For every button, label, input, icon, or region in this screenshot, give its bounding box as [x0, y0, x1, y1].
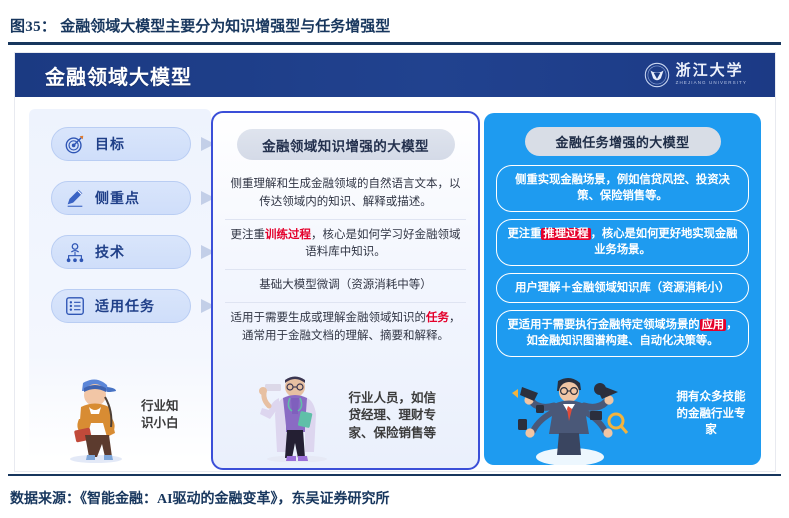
task-card: 更注重推理过程，核心是如何更好地实现金融业务场景。	[496, 219, 749, 266]
knowledge-row-text: ，核心是如何学习好金融领域语料库中知识。	[305, 229, 460, 259]
knowledge-row: 基础大模型微调（资源消耗中等）	[225, 269, 466, 302]
task-card-text: 用户理解＋金融领域知识库（资源消耗小）	[515, 282, 730, 294]
knowledge-row-text: 适用于需要生成或理解金融领域知识的	[231, 312, 427, 324]
task-card-highlight: 推理过程	[541, 228, 590, 240]
persona-expert: 拥有众多技能的金融行业专家	[484, 373, 761, 465]
knowledge-panel-rows: 侧重理解和生成金融领域的自然语言文本，以传达领域内的知识、解释或描述。 更注重训…	[213, 169, 478, 353]
dimension-label: 目标	[95, 134, 125, 154]
university-name-cn: 浙江大学	[676, 64, 747, 79]
figure-title: 金融领域大模型主要分为知识增强型与任务增强型	[60, 15, 390, 36]
student-novice-illustration	[53, 367, 139, 463]
persona-professional: 行业人员，如信贷经理、理财专家、保险销售等	[213, 368, 478, 464]
pencil-icon	[64, 187, 86, 209]
slide-title: 金融领域大模型	[45, 61, 192, 90]
source-divider	[8, 474, 781, 476]
task-panel-heading: 金融任务增强的大模型	[525, 127, 721, 156]
figure-caption: 图35： 金融领域大模型主要分为知识增强型与任务增强型	[10, 10, 780, 40]
knowledge-panel-heading: 金融领域知识增强的大模型	[237, 129, 455, 160]
knowledge-row-text: 更注重	[231, 229, 266, 241]
knowledge-row-text: 基础大模型微调（资源消耗中等）	[259, 279, 432, 291]
university-name: 浙江大学 ZHEJIANG UNIVERSITY	[676, 64, 747, 86]
checklist-icon	[64, 295, 86, 317]
dimension-label: 侧重点	[95, 188, 140, 208]
university-name-en: ZHEJIANG UNIVERSITY	[676, 81, 747, 86]
persona-label: 拥有众多技能的金融行业专家	[675, 389, 747, 439]
dimension-item-tasks[interactable]: 适用任务	[51, 289, 191, 323]
multiarm-expert-illustration	[492, 373, 642, 465]
task-card: 用户理解＋金融领域知识库（资源消耗小）	[496, 273, 749, 303]
dimension-item-goal[interactable]: 目标	[51, 127, 191, 161]
university-logo: 浙江大学 ZHEJIANG UNIVERSITY	[644, 62, 747, 88]
dimension-item-technology[interactable]: 技术	[51, 235, 191, 269]
caption-divider-top	[8, 42, 781, 45]
dimension-label: 适用任务	[95, 296, 155, 316]
knowledge-row: 适用于需要生成或理解金融领域知识的任务，通常用于金融文档的理解、摘要和解释。	[225, 302, 466, 353]
figure-source: 数据来源：《智能金融：AI驱动的金融变革》，东吴证券研究所	[10, 486, 780, 510]
task-card-text: 更注重	[508, 228, 542, 240]
task-panel-cards: 侧重实现金融场景，例如信贷风控、投资决策、保险销售等。 更注重推理过程，核心是如…	[484, 165, 761, 357]
persona-label: 行业知识小白	[141, 398, 189, 432]
target-icon	[64, 133, 86, 155]
knowledge-row-text: 侧重理解和生成金融领域的自然语言文本，以传达领域内的知识、解释或描述。	[231, 178, 461, 208]
persona-novice: 行业知识小白	[53, 367, 223, 463]
network-people-icon	[64, 241, 86, 263]
dimension-item-focus[interactable]: 侧重点	[51, 181, 191, 215]
task-card-highlight: 应用	[700, 319, 727, 331]
professional-doctor-illustration	[247, 370, 343, 462]
task-card: 更适用于需要执行金融特定领域场景的应用，如金融知识图谱构建、自动化决策等。	[496, 310, 749, 357]
dimension-label: 技术	[95, 242, 125, 262]
task-enhanced-panel: 金融任务增强的大模型 侧重实现金融场景，例如信贷风控、投资决策、保险销售等。 更…	[484, 113, 761, 465]
figure-number: 图35：	[10, 15, 56, 36]
knowledge-row: 更注重训练过程，核心是如何学习好金融领域语料库中知识。	[225, 219, 466, 270]
knowledge-row: 侧重理解和生成金融领域的自然语言文本，以传达领域内的知识、解释或描述。	[225, 169, 466, 219]
knowledge-enhanced-panel: 金融领域知识增强的大模型 侧重理解和生成金融领域的自然语言文本，以传达领域内的知…	[211, 111, 480, 470]
zju-crest-icon	[644, 62, 670, 88]
persona-label: 行业人员，如信贷经理、理财专家、保险销售等	[349, 390, 445, 443]
knowledge-panel-heading-text: 金融领域知识增强的大模型	[262, 135, 429, 155]
task-card-text: ，核心是如何更好地实现金融业务场景。	[591, 228, 738, 256]
slide-header: 金融领域大模型 浙江大学 ZHEJIANG UNIVERSITY	[15, 53, 775, 97]
knowledge-row-highlight: 任务	[426, 312, 449, 324]
task-panel-heading-text: 金融任务增强的大模型	[555, 132, 689, 151]
knowledge-row-highlight: 训练过程	[265, 229, 311, 241]
dimension-column: 目标 侧重点	[29, 109, 211, 459]
task-card-text: 更适用于需要执行金融特定领域场景的	[508, 319, 700, 331]
slide-container: 金融领域大模型 浙江大学 ZHEJIANG UNIVERSITY	[14, 52, 776, 472]
task-card-text: 侧重实现金融场景，例如信贷风控、投资决策、保险销售等。	[515, 174, 730, 202]
task-card: 侧重实现金融场景，例如信贷风控、投资决策、保险销售等。	[496, 165, 749, 212]
